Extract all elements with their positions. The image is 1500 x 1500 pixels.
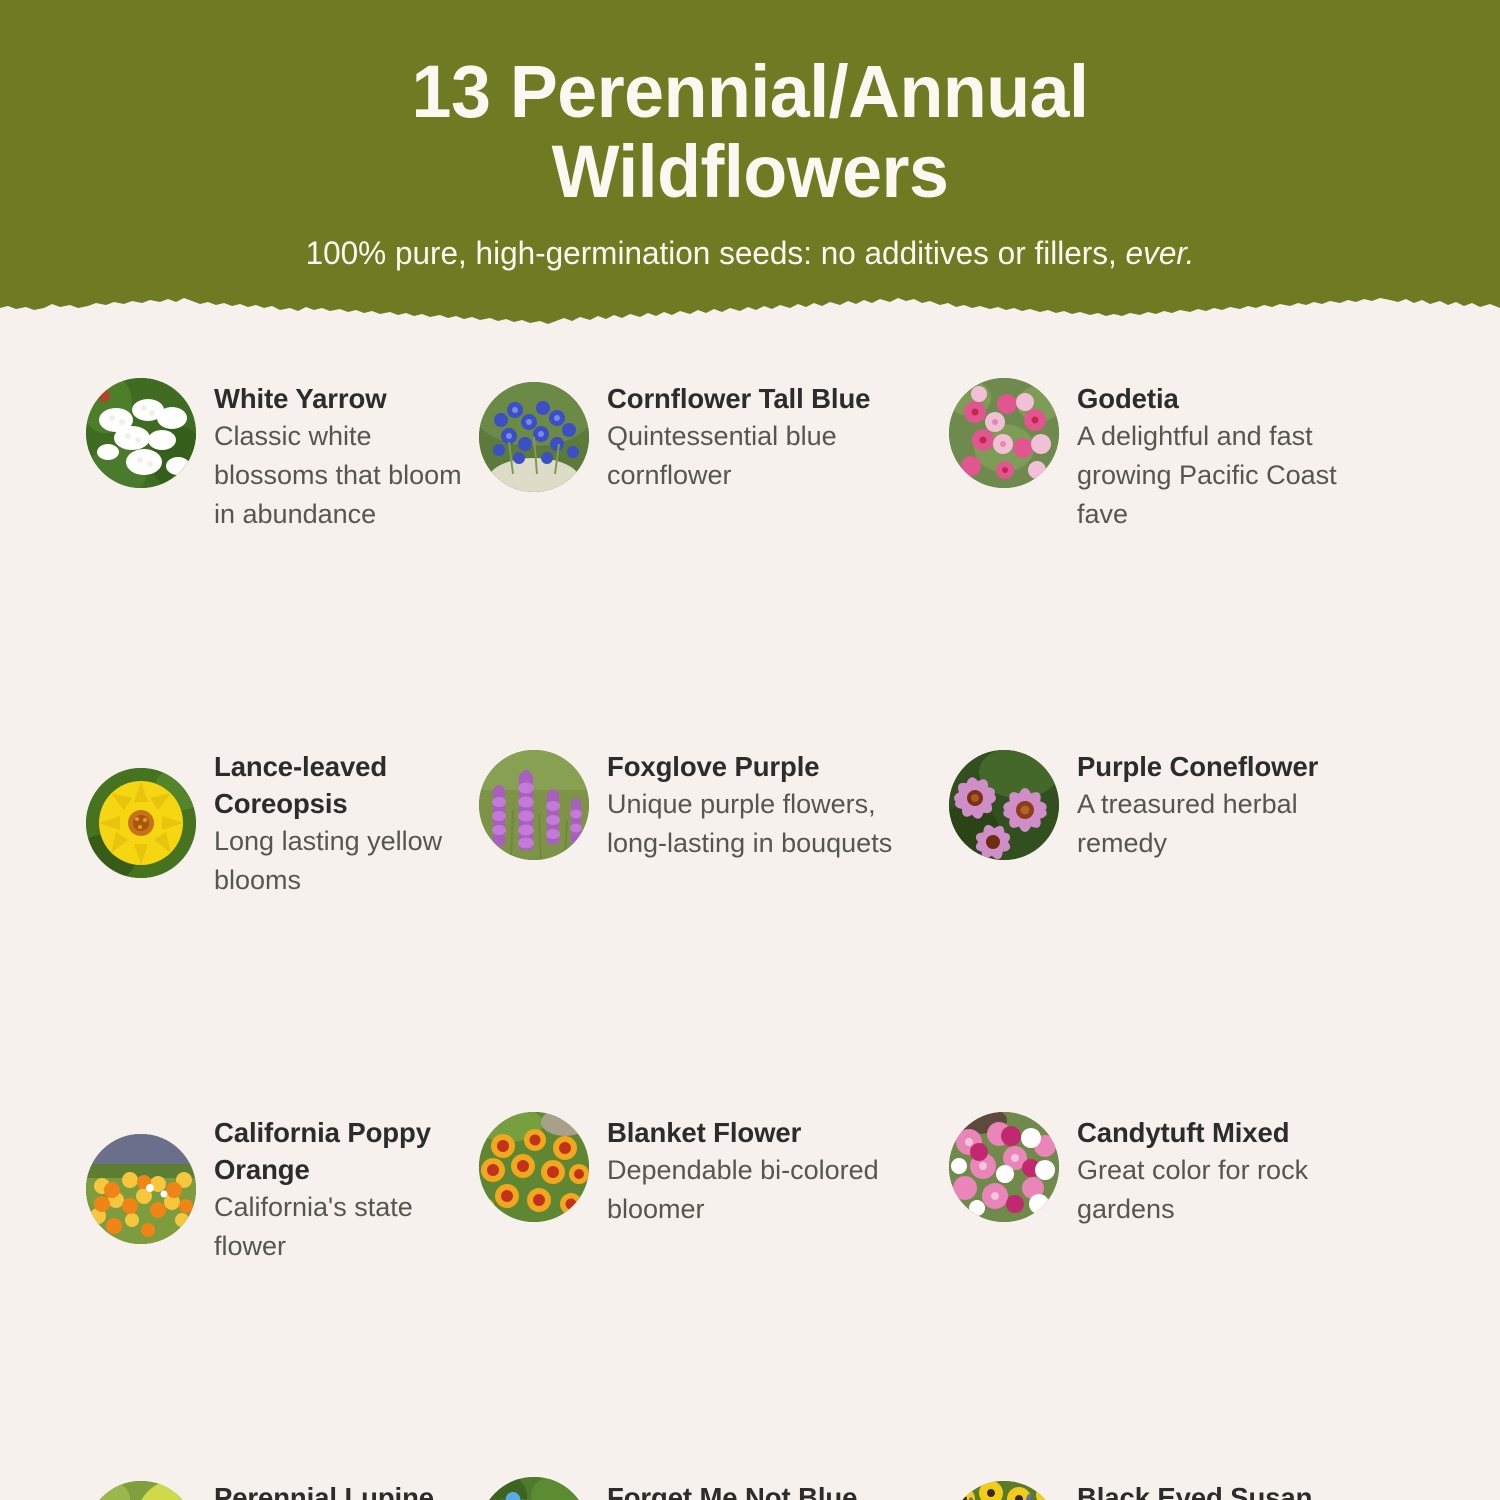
subtitle-main-text: 100% pure, high-germination seeds: no ad… [306, 235, 1117, 271]
grid-cell-r4c1: Perennial Lupine Gorgeous, purple spires [0, 1477, 470, 1500]
flower-text-block: Forget Me Not Blue Classic blue florets … [607, 1477, 907, 1500]
flower-text-block: Foxglove Purple Unique purple flowers, l… [607, 746, 907, 863]
flower-description: Classic white blossoms that bloom in abu… [214, 417, 470, 534]
flower-description: A delightful and fast growing Pacific Co… [1077, 417, 1387, 534]
grid-cell-r2c1: Lance-leaved Coreopsis Long lasting yell… [0, 746, 470, 900]
purple-coneflower-photo [949, 750, 1059, 860]
forget-me-not-blue-photo [479, 1477, 589, 1500]
list-item: California Poppy Orange California's sta… [86, 1112, 470, 1266]
flower-name: Perennial Lupine [214, 1479, 470, 1500]
wildflower-seed-infographic: 13 Perennial/Annual Wildflowers 100% pur… [0, 0, 1500, 1500]
list-item: Black Eyed Susan Long lasting flowers wi… [949, 1477, 1500, 1500]
flower-text-block: Lance-leaved Coreopsis Long lasting yell… [214, 746, 470, 900]
list-item: Godetia A delightful and fast growing Pa… [949, 378, 1500, 534]
grid-cell-r4c3: Black Eyed Susan Long lasting flowers wi… [940, 1477, 1500, 1500]
foxglove-purple-photo [479, 750, 589, 860]
blanket-flower-photo [479, 1112, 589, 1222]
grid-cell-r1c2: Cornflower Tall Blue Quintessential blue… [470, 378, 940, 534]
list-item: Foxglove Purple Unique purple flowers, l… [479, 746, 940, 863]
perennial-lupine-icon [86, 1481, 196, 1500]
flower-name: Cornflower Tall Blue [607, 380, 907, 417]
flower-name: Godetia [1077, 380, 1387, 417]
grid-cell-r2c3: Purple Coneflower A treasured herbal rem… [940, 746, 1500, 900]
flower-description: A treasured herbal remedy [1077, 785, 1377, 863]
header-content: 13 Perennial/Annual Wildflowers 100% pur… [0, 0, 1500, 272]
flower-text-block: Candytuft Mixed Great color for rock gar… [1077, 1112, 1377, 1229]
flower-text-block: California Poppy Orange California's sta… [214, 1112, 470, 1266]
flower-text-block: Perennial Lupine Gorgeous, purple spires [214, 1477, 470, 1500]
foxglove-purple-icon [479, 750, 589, 860]
flower-text-block: Godetia A delightful and fast growing Pa… [1077, 378, 1387, 534]
row-spacer [0, 534, 1500, 746]
cornflower-tall-blue-icon [479, 382, 589, 492]
page-subtitle: 100% pure, high-germination seeds: no ad… [110, 234, 1391, 272]
flower-text-block: White Yarrow Classic white blossoms that… [214, 378, 470, 534]
subtitle-emphasis-text: ever. [1126, 235, 1195, 271]
grid-cell-r1c1: White Yarrow Classic white blossoms that… [0, 378, 470, 534]
grid-cell-r3c3: Candytuft Mixed Great color for rock gar… [940, 1112, 1500, 1266]
flower-name: Black Eyed Susan [1077, 1479, 1377, 1500]
list-item: Forget Me Not Blue Classic blue florets … [479, 1477, 940, 1500]
flower-description: Great color for rock gardens [1077, 1151, 1377, 1229]
candytuft-mixed-photo [949, 1112, 1059, 1222]
row-spacer [0, 900, 1500, 1112]
flower-text-block: Cornflower Tall Blue Quintessential blue… [607, 378, 907, 495]
flower-text-block: Blanket Flower Dependable bi-colored blo… [607, 1112, 907, 1229]
list-item: Lance-leaved Coreopsis Long lasting yell… [86, 746, 470, 900]
flower-name: Lance-leaved Coreopsis [214, 748, 470, 822]
flower-row-1: White Yarrow Classic white blossoms that… [0, 378, 1500, 534]
page-title-line-2: Wildflowers [217, 132, 1284, 212]
godetia-photo [949, 378, 1059, 488]
blanket-flower-icon [479, 1112, 589, 1222]
list-item: Perennial Lupine Gorgeous, purple spires [86, 1477, 470, 1500]
flower-text-block: Black Eyed Susan Long lasting flowers wi… [1077, 1477, 1377, 1500]
godetia-icon [949, 378, 1059, 488]
flower-name: Purple Coneflower [1077, 748, 1377, 785]
california-poppy-orange-photo [86, 1134, 196, 1244]
cornflower-tall-blue-photo [479, 382, 589, 492]
flower-name: Blanket Flower [607, 1114, 907, 1151]
lance-leaved-coreopsis-icon [86, 768, 196, 878]
flower-name: Candytuft Mixed [1077, 1114, 1377, 1151]
lance-leaved-coreopsis-photo [86, 768, 196, 878]
flower-description: Quintessential blue cornflower [607, 417, 907, 495]
flower-description: Dependable bi-colored bloomer [607, 1151, 907, 1229]
flower-row-2: Lance-leaved Coreopsis Long lasting yell… [0, 746, 1500, 900]
row-spacer [0, 1266, 1500, 1477]
forget-me-not-blue-icon [479, 1477, 589, 1500]
flower-description: Unique purple flowers, long-lasting in b… [607, 785, 907, 863]
list-item: Candytuft Mixed Great color for rock gar… [949, 1112, 1500, 1229]
page-title: 13 Perennial/Annual Wildflowers [217, 52, 1284, 212]
flower-name: Foxglove Purple [607, 748, 907, 785]
flower-name: Forget Me Not Blue [607, 1479, 907, 1500]
flower-row-4: Perennial Lupine Gorgeous, purple spires [0, 1477, 1500, 1500]
flower-text-block: Purple Coneflower A treasured herbal rem… [1077, 746, 1377, 863]
grid-cell-r4c2: Forget Me Not Blue Classic blue florets … [470, 1477, 940, 1500]
purple-coneflower-icon [949, 750, 1059, 860]
black-eyed-susan-photo [949, 1481, 1059, 1500]
grid-cell-r2c2: Foxglove Purple Unique purple flowers, l… [470, 746, 940, 900]
grid-cell-r3c2: Blanket Flower Dependable bi-colored blo… [470, 1112, 940, 1266]
page-title-line-1: 13 Perennial/Annual [217, 52, 1284, 132]
perennial-lupine-photo [86, 1481, 196, 1500]
grid-cell-r1c3: Godetia A delightful and fast growing Pa… [940, 378, 1500, 534]
list-item: Purple Coneflower A treasured herbal rem… [949, 746, 1500, 863]
white-yarrow-icon [86, 378, 196, 488]
candytuft-mixed-icon [949, 1112, 1059, 1222]
black-eyed-susan-icon [949, 1481, 1059, 1500]
header-banner: 13 Perennial/Annual Wildflowers 100% pur… [0, 0, 1500, 330]
california-poppy-orange-icon [86, 1134, 196, 1244]
flower-description: Long lasting yellow blooms [214, 822, 470, 900]
flower-list-grid: White Yarrow Classic white blossoms that… [0, 378, 1500, 1500]
list-item: White Yarrow Classic white blossoms that… [86, 378, 470, 534]
flower-row-3: California Poppy Orange California's sta… [0, 1112, 1500, 1266]
list-item: Blanket Flower Dependable bi-colored blo… [479, 1112, 940, 1229]
flower-name: California Poppy Orange [214, 1114, 470, 1188]
grid-cell-r3c1: California Poppy Orange California's sta… [0, 1112, 470, 1266]
list-item: Cornflower Tall Blue Quintessential blue… [479, 378, 940, 495]
white-yarrow-photo [86, 378, 196, 488]
flower-description: California's state flower [214, 1188, 470, 1266]
flower-name: White Yarrow [214, 380, 470, 417]
